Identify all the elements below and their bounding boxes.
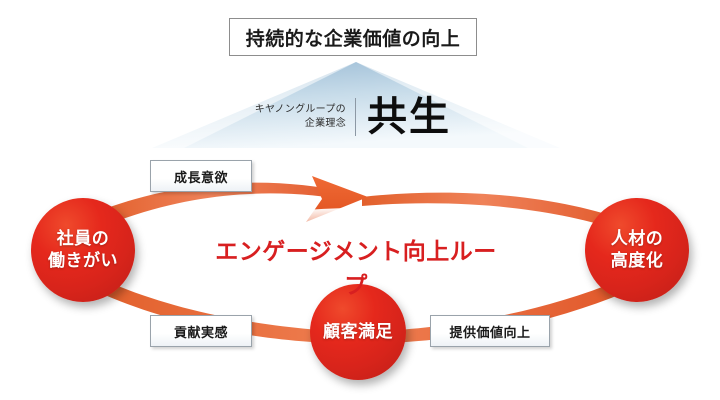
node-human-resource-advancement: 人材の 高度化: [585, 198, 689, 302]
diagram-canvas: 持続的な企業価値の向上 キヤノングループの 企業理念 共生 エンゲージメント向上…: [0, 0, 720, 400]
corporate-philosophy-lockup: キヤノングループの 企業理念 共生: [228, 92, 460, 142]
philosophy-caption-line1: キヤノングループの: [228, 103, 346, 118]
node-employee-fulfillment: 社員の 働きがい: [31, 198, 135, 302]
philosophy-caption: キヤノングループの 企業理念: [228, 103, 346, 132]
node-label-line1: 顧客満足: [323, 321, 393, 343]
tag-provided-value-improvement: 提供価値向上: [430, 315, 550, 347]
headline-box: 持続的な企業価値の向上: [229, 18, 477, 56]
node-label-line1: 社員の: [48, 228, 118, 250]
tag-growth-motivation: 成長意欲: [150, 160, 252, 192]
philosophy-divider: [355, 98, 356, 136]
node-label-line1: 人材の: [611, 228, 664, 250]
loop-caption: エンゲージメント向上ループ: [210, 232, 502, 300]
tag-contribution-realization: 貢献実感: [150, 315, 252, 347]
philosophy-word: 共生: [367, 97, 451, 137]
node-label-line2: 働きがい: [48, 250, 118, 272]
node-label-line2: 高度化: [611, 250, 664, 272]
philosophy-caption-line2: 企業理念: [228, 117, 346, 132]
